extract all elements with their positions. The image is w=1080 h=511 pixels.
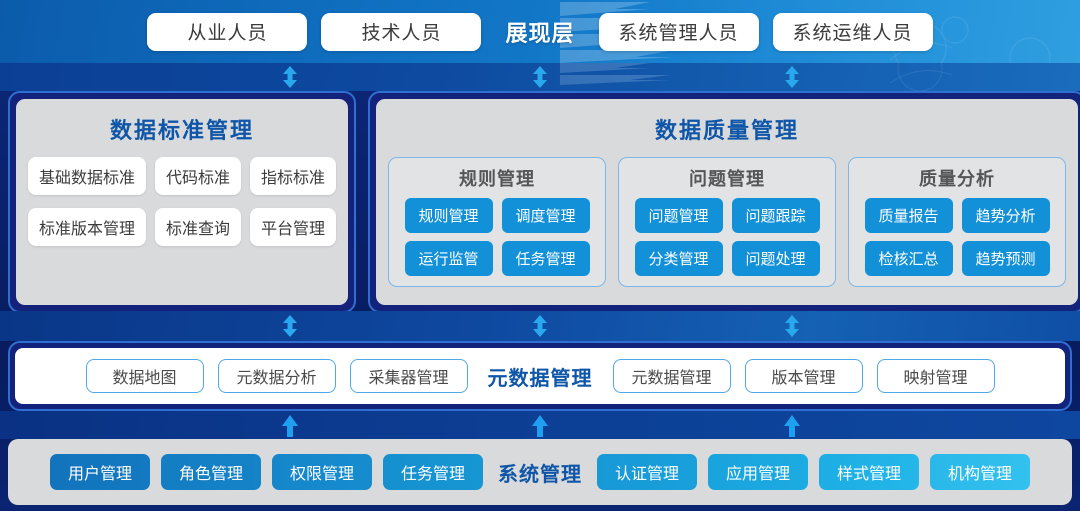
chip-collector-management[interactable]: 采集器管理 <box>350 359 468 393</box>
chip-platform-management[interactable]: 平台管理 <box>250 208 336 246</box>
button-task-management-sys[interactable]: 任务管理 <box>383 454 483 490</box>
rule-button-grid: 规则管理 调度管理 运行监管 任务管理 <box>405 198 590 276</box>
button-quality-report[interactable]: 质量报告 <box>865 198 953 233</box>
data-standard-chip-grid: 基础数据标准 代码标准 指标标准 标准版本管理 标准查询 平台管理 <box>28 157 336 246</box>
rule-button-row: 规则管理 调度管理 <box>405 198 590 233</box>
double-arrow-icon <box>528 312 552 340</box>
button-role-management[interactable]: 角色管理 <box>161 454 261 490</box>
connector-strip-middle <box>0 311 1080 341</box>
subgroup-title-issue: 问题管理 <box>689 165 765 191</box>
subgroup-rule-management: 规则管理 规则管理 调度管理 运行监管 任务管理 <box>388 157 606 287</box>
arrow-up-icon <box>780 413 804 439</box>
chip-code-standard[interactable]: 代码标准 <box>155 157 241 195</box>
double-arrow-icon <box>780 63 804 91</box>
double-arrow-icon <box>528 63 552 91</box>
metadata-content: 数据地图 元数据分析 采集器管理 元数据管理 元数据管理 版本管理 映射管理 <box>15 348 1065 404</box>
rule-button-row: 运行监管 任务管理 <box>405 241 590 276</box>
button-operation-monitoring[interactable]: 运行监管 <box>405 241 493 276</box>
connector-strip-top <box>0 63 1080 91</box>
button-organization-management[interactable]: 机构管理 <box>930 454 1030 490</box>
system-management-band: 用户管理 角色管理 权限管理 任务管理 系统管理 认证管理 应用管理 样式管理 … <box>8 439 1072 505</box>
data-standard-row: 标准版本管理 标准查询 平台管理 <box>28 208 336 246</box>
data-standard-management-card: 数据标准管理 基础数据标准 代码标准 指标标准 标准版本管理 标准查询 平台管理 <box>8 91 356 313</box>
chip-metadata-management[interactable]: 元数据管理 <box>613 359 731 393</box>
subgroup-title-analysis: 质量分析 <box>919 165 995 191</box>
button-user-management[interactable]: 用户管理 <box>50 454 150 490</box>
presentation-layer-content: 从业人员 技术人员 展现层 系统管理人员 系统运维人员 <box>0 0 1080 63</box>
subgroup-quality-analysis: 质量分析 质量报告 趋势分析 检核汇总 趋势预测 <box>848 157 1066 287</box>
connector-strip-bottom <box>0 411 1080 439</box>
presentation-layer-band: 从业人员 技术人员 展现层 系统管理人员 系统运维人员 <box>0 0 1080 63</box>
architecture-diagram: 从业人员 技术人员 展现层 系统管理人员 系统运维人员 <box>0 0 1080 511</box>
button-application-management[interactable]: 应用管理 <box>708 454 808 490</box>
chip-metadata-analysis[interactable]: 元数据分析 <box>218 359 336 393</box>
issue-button-row: 分类管理 问题处理 <box>635 241 820 276</box>
button-auth-management[interactable]: 认证管理 <box>597 454 697 490</box>
role-chip-technician[interactable]: 技术人员 <box>321 13 481 51</box>
button-schedule-management[interactable]: 调度管理 <box>502 198 590 233</box>
button-task-management[interactable]: 任务管理 <box>502 241 590 276</box>
subgroup-issue-management: 问题管理 问题管理 问题跟踪 分类管理 问题处理 <box>618 157 836 287</box>
button-trend-analysis[interactable]: 趋势分析 <box>962 198 1050 233</box>
button-issue-handling[interactable]: 问题处理 <box>732 241 820 276</box>
analysis-button-grid: 质量报告 趋势分析 检核汇总 趋势预测 <box>865 198 1050 276</box>
button-classification-management[interactable]: 分类管理 <box>635 241 723 276</box>
metadata-management-band: 数据地图 元数据分析 采集器管理 元数据管理 元数据管理 版本管理 映射管理 <box>8 341 1072 411</box>
button-issue-tracking[interactable]: 问题跟踪 <box>732 198 820 233</box>
subgroup-title-rule: 规则管理 <box>459 165 535 191</box>
zigzag-decoration-icon <box>560 63 1080 91</box>
presentation-layer-title: 展现层 <box>495 16 584 48</box>
analysis-button-row: 质量报告 趋势分析 <box>865 198 1050 233</box>
data-standard-title: 数据标准管理 <box>110 113 254 145</box>
data-quality-panel: 数据质量管理 规则管理 规则管理 调度管理 运行监管 任务管理 <box>376 99 1078 305</box>
button-style-management[interactable]: 样式管理 <box>819 454 919 490</box>
core-modules-row: 数据标准管理 基础数据标准 代码标准 指标标准 标准版本管理 标准查询 平台管理 <box>8 91 1072 313</box>
role-chip-system-admin[interactable]: 系统管理人员 <box>599 13 759 51</box>
chip-mapping-management[interactable]: 映射管理 <box>877 359 995 393</box>
role-chip-system-ops[interactable]: 系统运维人员 <box>773 13 933 51</box>
system-layer-title: 系统管理 <box>494 458 586 487</box>
metadata-layer-title: 元数据管理 <box>482 362 599 391</box>
chip-standard-query[interactable]: 标准查询 <box>155 208 241 246</box>
data-quality-title: 数据质量管理 <box>655 113 799 145</box>
chip-indicator-standard[interactable]: 指标标准 <box>250 157 336 195</box>
button-permission-management[interactable]: 权限管理 <box>272 454 372 490</box>
issue-button-grid: 问题管理 问题跟踪 分类管理 问题处理 <box>635 198 820 276</box>
button-inspection-summary[interactable]: 检核汇总 <box>865 241 953 276</box>
arrow-up-icon <box>278 413 302 439</box>
role-chip-practitioner[interactable]: 从业人员 <box>147 13 307 51</box>
double-arrow-icon <box>278 312 302 340</box>
data-standard-panel: 数据标准管理 基础数据标准 代码标准 指标标准 标准版本管理 标准查询 平台管理 <box>16 99 348 305</box>
issue-button-row: 问题管理 问题跟踪 <box>635 198 820 233</box>
button-trend-forecast[interactable]: 趋势预测 <box>962 241 1050 276</box>
button-rule-management[interactable]: 规则管理 <box>405 198 493 233</box>
analysis-button-row: 检核汇总 趋势预测 <box>865 241 1050 276</box>
chip-standard-version-management[interactable]: 标准版本管理 <box>28 208 146 246</box>
double-arrow-icon <box>780 312 804 340</box>
data-standard-row: 基础数据标准 代码标准 指标标准 <box>28 157 336 195</box>
double-arrow-icon <box>278 63 302 91</box>
data-quality-management-card: 数据质量管理 规则管理 规则管理 调度管理 运行监管 任务管理 <box>368 91 1080 313</box>
data-quality-subgroups: 规则管理 规则管理 调度管理 运行监管 任务管理 <box>388 157 1066 287</box>
chip-version-management[interactable]: 版本管理 <box>745 359 863 393</box>
button-issue-management[interactable]: 问题管理 <box>635 198 723 233</box>
chip-data-map[interactable]: 数据地图 <box>86 359 204 393</box>
chip-basic-data-standard[interactable]: 基础数据标准 <box>28 157 146 195</box>
arrow-up-icon <box>528 413 552 439</box>
